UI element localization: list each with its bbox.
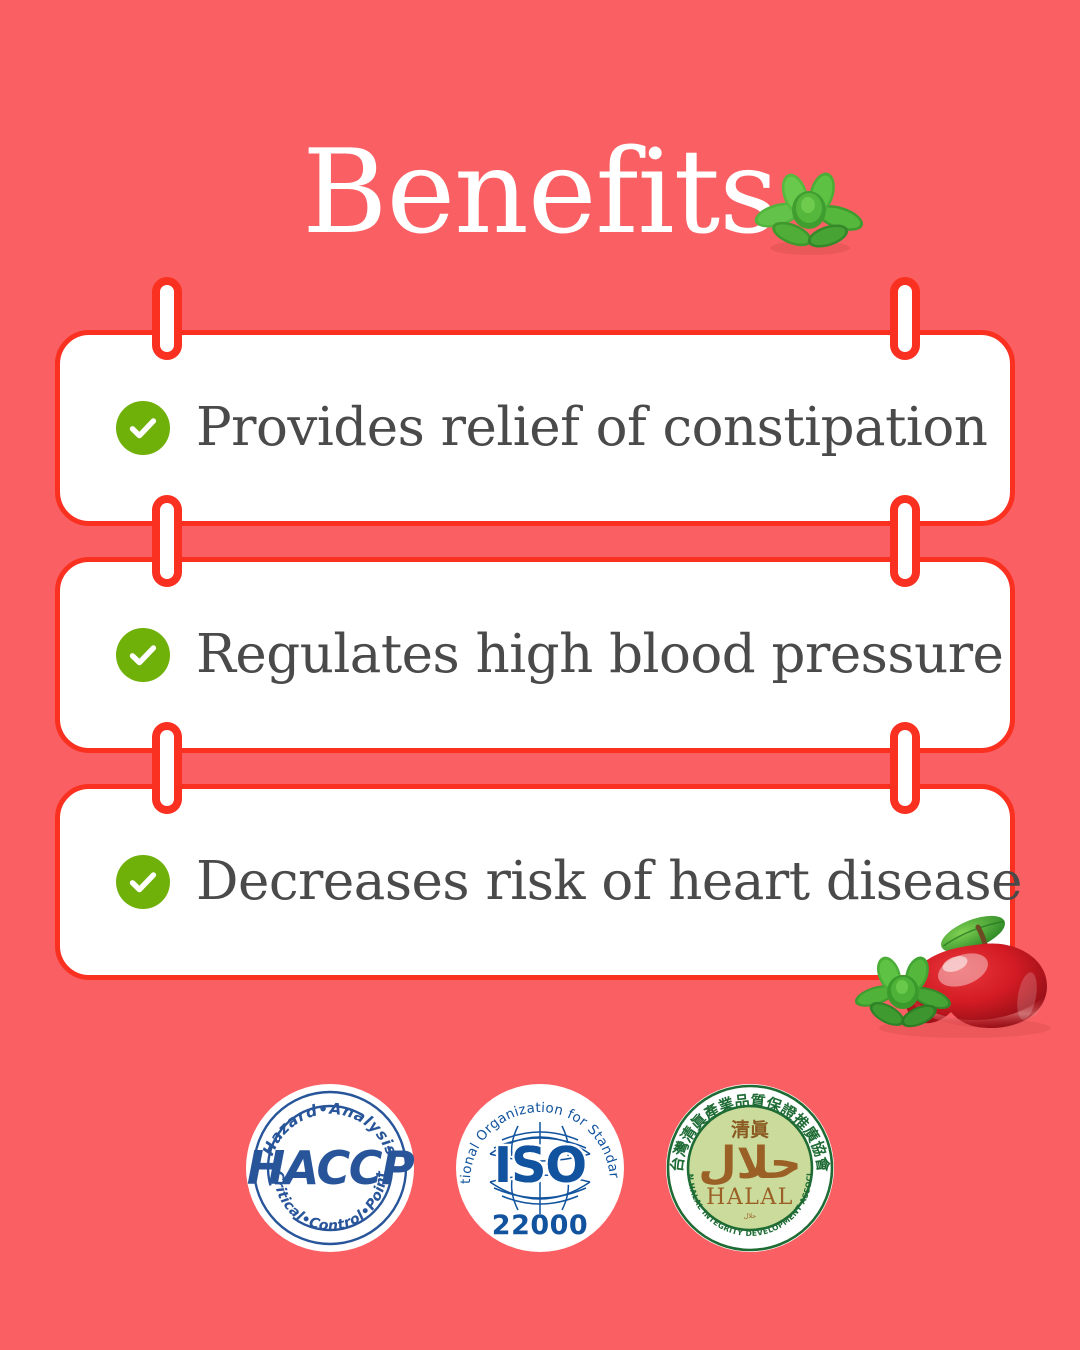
- staple-pin-icon: [152, 495, 182, 587]
- benefits-poster: Benefits: [0, 0, 1080, 1350]
- iso-acronym-label: ISO: [454, 1254, 455, 1255]
- halal-badge-icon: 台灣清眞產業品質保證推廣協會 TAIWAN HALAL INTEGRITY DE…: [664, 1082, 836, 1254]
- svg-text:حلال: حلال: [744, 1212, 757, 1220]
- staple-pin-icon: [890, 722, 920, 814]
- mint-leaf-icon: [748, 160, 866, 260]
- benefit-card-1-inner: Provides relief of constipation: [60, 400, 1010, 456]
- svg-text:ISO: ISO: [494, 1137, 586, 1194]
- svg-text:HALAL: HALAL: [706, 1185, 794, 1210]
- benefit-card-2[interactable]: Regulates high blood pressure: [55, 557, 1015, 753]
- iso-badge-icon: International Organization for Standardi…: [454, 1082, 626, 1254]
- staple-pin-icon: [152, 722, 182, 814]
- benefit-text-1: Provides relief of constipation: [196, 400, 987, 456]
- check-circle-icon: [116, 855, 170, 909]
- benefit-card-2-inner: Regulates high blood pressure: [60, 627, 1010, 683]
- check-circle-icon: [116, 401, 170, 455]
- benefit-text-2: Regulates high blood pressure: [196, 627, 1003, 683]
- halal-arabic-center-label: حلال: [664, 1254, 665, 1255]
- haccp-badge-icon: Hazard•Analysis Critical•Control•Point H…: [244, 1082, 416, 1254]
- halal-chinese-center-label: 清眞: [664, 1254, 665, 1255]
- halal-top-arc-label: 台灣清眞產業品質保證推廣協會: [664, 1254, 665, 1255]
- red-apple-icon: [855, 900, 1080, 1040]
- svg-text:حلال: حلال: [698, 1138, 801, 1189]
- staple-pin-icon: [890, 277, 920, 360]
- certification-badges: Hazard•Analysis Critical•Control•Point H…: [0, 1078, 1080, 1258]
- iso-top-arc-label: International Organization for Standardi…: [454, 1254, 455, 1255]
- haccp-top-arc-label: Hazard•Analysis: [244, 1254, 245, 1255]
- haccp-bottom-arc-label: Critical•Control•Point: [244, 1254, 245, 1255]
- title-row: Benefits: [0, 128, 1080, 258]
- halal-acronym-label: HALAL: [664, 1254, 665, 1255]
- staple-pin-icon: [152, 277, 182, 360]
- staple-pin-icon: [890, 495, 920, 587]
- svg-text:HACCP: HACCP: [247, 1141, 415, 1195]
- benefit-card-1[interactable]: Provides relief of constipation: [55, 330, 1015, 526]
- halal-bottom-arc-label: TAIWAN HALAL INTEGRITY DEVELOPMENT ASSOC…: [664, 1254, 665, 1255]
- iso-number-label: 22000: [454, 1254, 455, 1255]
- svg-text:22000: 22000: [492, 1210, 588, 1241]
- haccp-acronym-label: HACCP: [244, 1254, 245, 1255]
- page-title: Benefits: [302, 135, 777, 251]
- check-circle-icon: [116, 628, 170, 682]
